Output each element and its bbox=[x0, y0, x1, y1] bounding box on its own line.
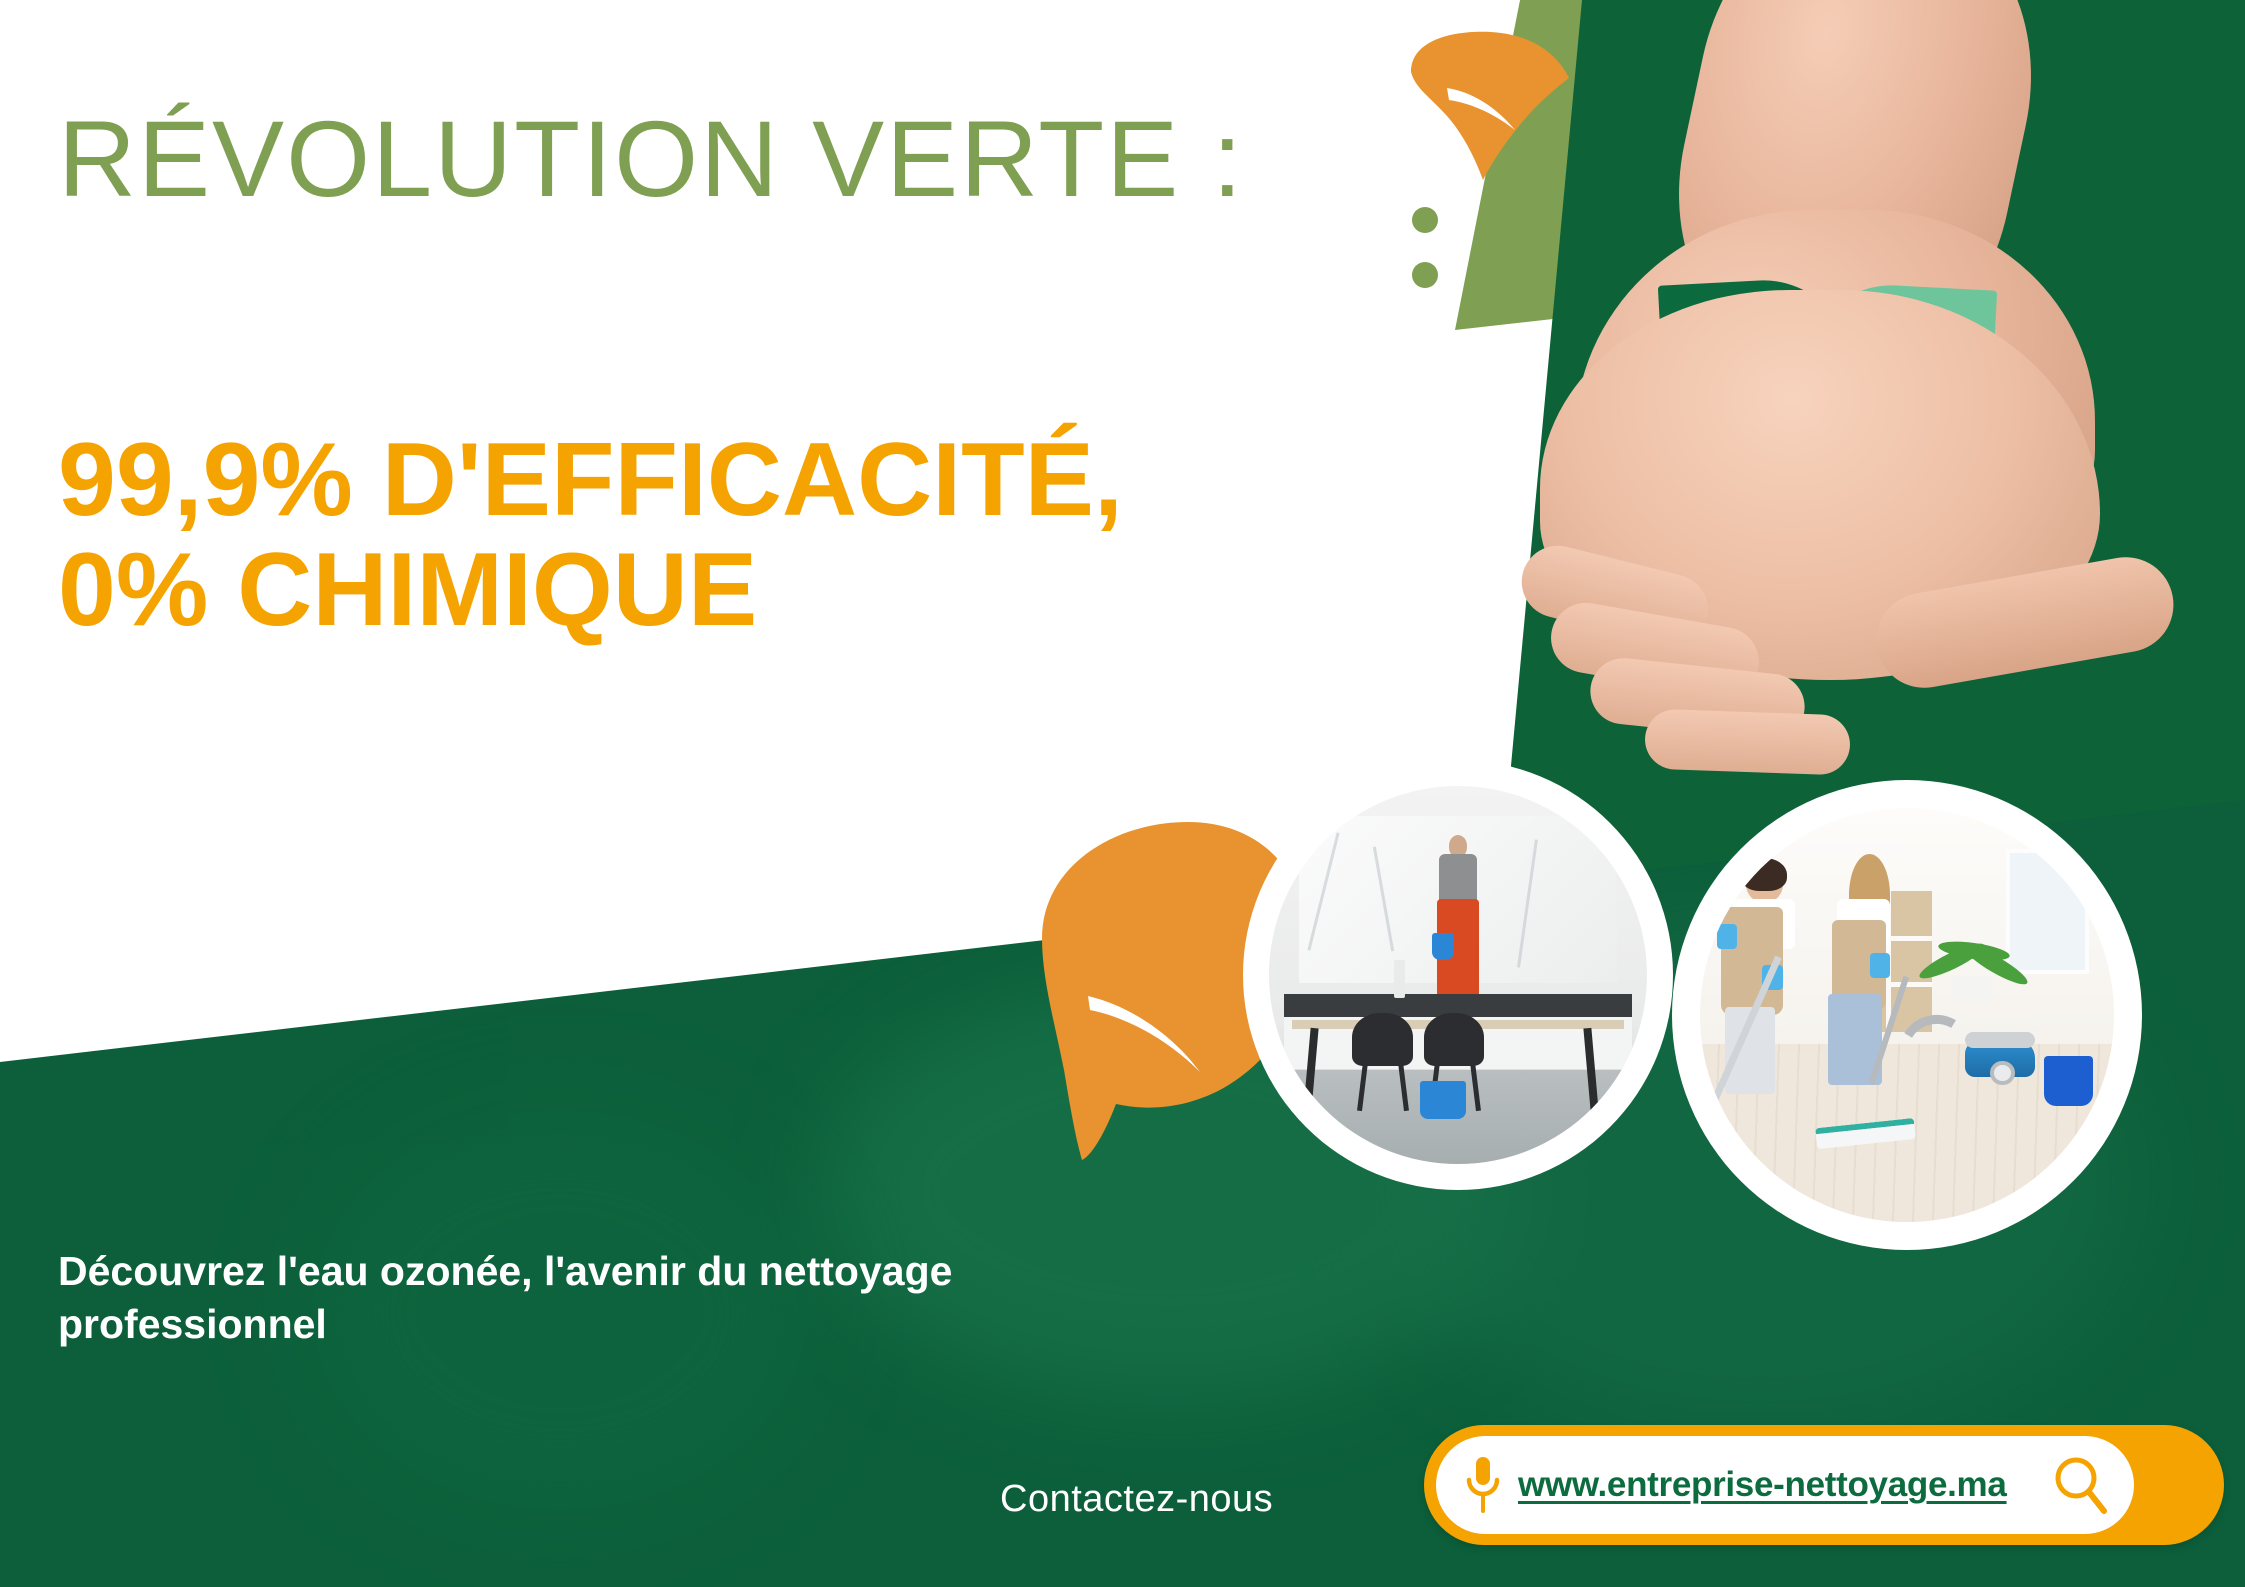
headline-line-1: 99,9% D'EFFICACITÉ, bbox=[58, 425, 1123, 535]
headline-line-2: 0% CHIMIQUE bbox=[58, 535, 1123, 645]
plant-pot bbox=[1952, 977, 1992, 1001]
leaf-icon bbox=[1405, 30, 1575, 180]
contact-label: Contactez-nous bbox=[1000, 1478, 1273, 1521]
green-dot-icon bbox=[1412, 207, 1438, 233]
vacuum-wheel bbox=[1990, 1061, 2015, 1086]
cleaner-glove bbox=[1717, 924, 1738, 949]
cleaner-hair bbox=[1741, 858, 1787, 891]
photo-circle-kitchen bbox=[1243, 760, 1673, 1190]
photo-circle-living-room bbox=[1672, 780, 2142, 1250]
floor-bucket bbox=[1420, 1081, 1465, 1119]
chair bbox=[1424, 1013, 1484, 1066]
eyebrow-text: RÉVOLUTION VERTE : bbox=[58, 96, 1244, 221]
magnifier-icon[interactable] bbox=[2052, 1456, 2108, 1514]
search-bar[interactable]: www.entreprise-nettoyage.ma bbox=[1424, 1425, 2224, 1545]
photo-inner bbox=[1269, 786, 1647, 1164]
cleaner-glove bbox=[1870, 953, 1891, 978]
finger bbox=[1644, 708, 1851, 775]
chair bbox=[1352, 1013, 1412, 1066]
photo-inner bbox=[1700, 808, 2114, 1222]
window bbox=[2006, 849, 2089, 973]
vase bbox=[1394, 960, 1405, 998]
search-url-text[interactable]: www.entreprise-nettoyage.ma bbox=[1518, 1465, 2007, 1505]
hands-holding-drops-photo bbox=[1480, 0, 2245, 800]
vacuum-top bbox=[1965, 1032, 2035, 1049]
promo-banner: CLEANING CHECKLIST - BASICS Dust All Sur… bbox=[0, 0, 2245, 1587]
search-bar-inner[interactable]: www.entreprise-nettoyage.ma bbox=[1436, 1436, 2134, 1534]
hand-bucket bbox=[1432, 933, 1455, 959]
blue-bucket bbox=[2044, 1056, 2094, 1106]
subheadline-text: Découvrez l'eau ozonée, l'avenir du nett… bbox=[58, 1245, 1048, 1352]
green-dot-icon bbox=[1412, 262, 1438, 288]
worker-torso bbox=[1439, 854, 1477, 903]
page-title: 99,9% D'EFFICACITÉ, 0% CHIMIQUE bbox=[58, 425, 1123, 645]
microphone-icon[interactable] bbox=[1466, 1457, 1500, 1513]
